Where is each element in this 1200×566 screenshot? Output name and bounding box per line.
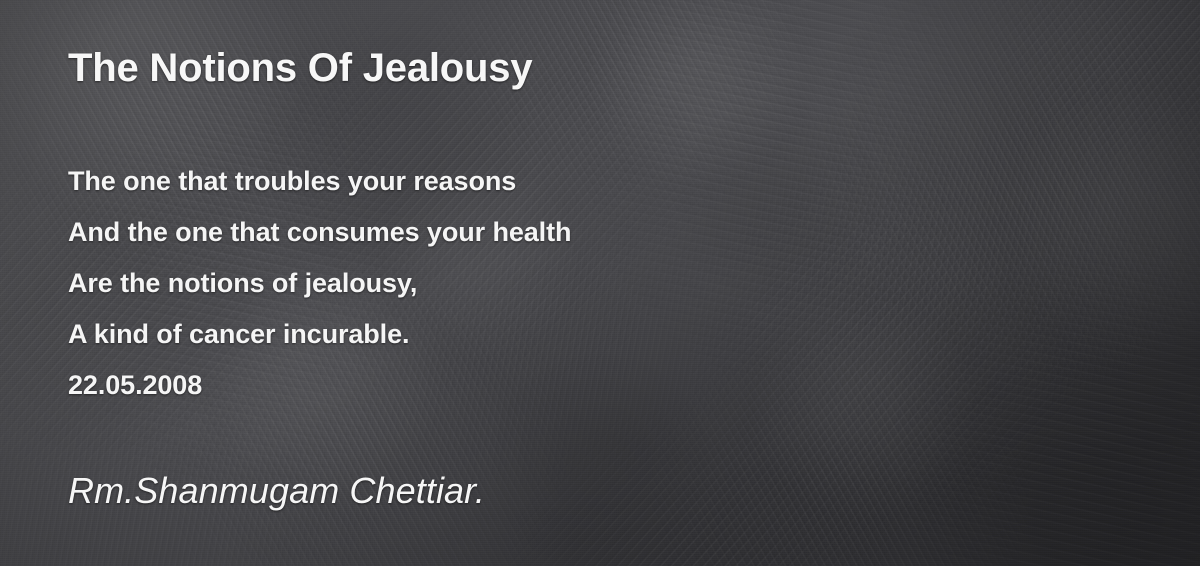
poem-text-block: The Notions Of Jealousy The one that tro… <box>68 0 1200 566</box>
poem-line: A kind of cancer incurable. <box>68 309 571 360</box>
poem-date-line: 22.05.2008 <box>68 360 571 411</box>
poem-title: The Notions Of Jealousy <box>68 46 532 91</box>
poem-line: The one that troubles your reasons <box>68 156 571 207</box>
poem-author: Rm.Shanmugam Chettiar. <box>68 470 485 512</box>
poem-card: The Notions Of Jealousy The one that tro… <box>0 0 1200 566</box>
poem-body: The one that troubles your reasons And t… <box>68 156 571 411</box>
poem-line: Are the notions of jealousy, <box>68 258 571 309</box>
poem-line: And the one that consumes your health <box>68 207 571 258</box>
